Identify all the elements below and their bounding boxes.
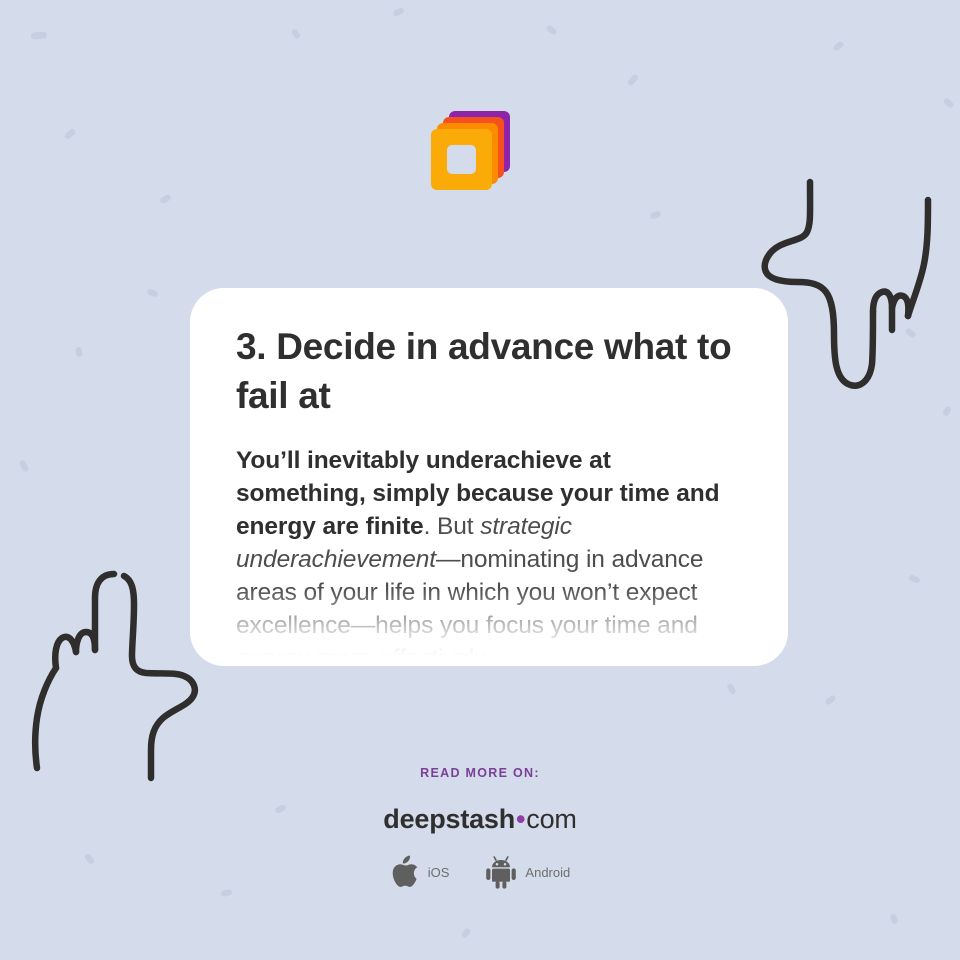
idea-card: 3. Decide in advance what to fail at You… <box>190 288 788 666</box>
brand-name: deepstash <box>383 804 515 834</box>
apple-icon <box>390 855 420 889</box>
page-title: 3. Decide in advance what to fail at <box>236 322 742 420</box>
brand-wordmark[interactable]: deepstash•com <box>0 804 960 835</box>
ios-badge-label: iOS <box>428 865 450 880</box>
android-badge[interactable]: Android <box>485 855 570 889</box>
android-badge-label: Android <box>525 865 570 880</box>
android-icon <box>485 855 517 889</box>
brand-dot: • <box>515 804 526 834</box>
store-badges: iOS <box>0 855 960 889</box>
pointing-hand-up-icon <box>18 552 214 788</box>
poster-canvas: 3. Decide in advance what to fail at You… <box>0 0 960 960</box>
idea-body-plain-1: . But <box>424 513 481 540</box>
deepstash-logo <box>425 100 525 200</box>
footer: READ MORE ON: deepstash•com iOS <box>0 766 960 889</box>
idea-card-content: 3. Decide in advance what to fail at You… <box>190 288 788 666</box>
ios-badge[interactable]: iOS <box>390 855 450 889</box>
read-more-label: READ MORE ON: <box>0 766 960 780</box>
brand-tld: com <box>526 804 576 834</box>
idea-body-text: You’ll inevitably underachieve at someth… <box>236 444 742 666</box>
